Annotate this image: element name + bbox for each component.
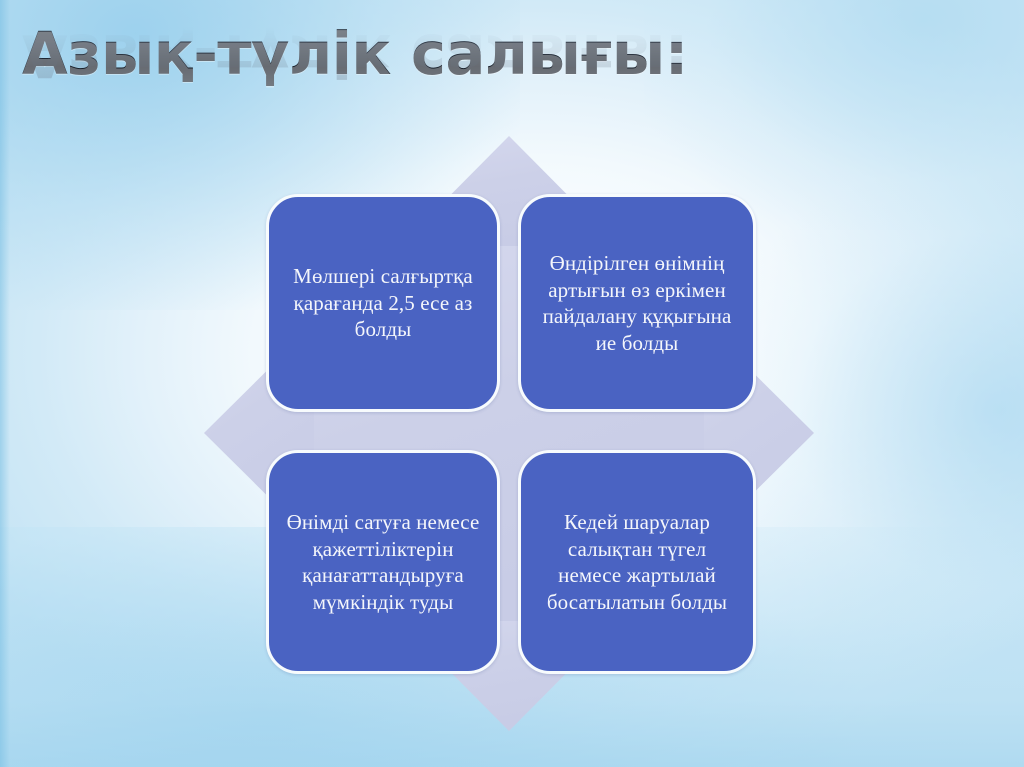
matrix-box-text: Өндірілген өнімнің артығын өз еркімен па… — [521, 250, 753, 356]
background-edge-left — [0, 0, 10, 767]
matrix-box-top-left[interactable]: Мөлшері салғыртқа қарағанда 2,5 есе аз б… — [266, 194, 500, 412]
page-title: Азық-түлік салығы: — [22, 22, 722, 86]
matrix-box-bottom-right[interactable]: Кедей шаруалар салықтан түгел немесе жар… — [518, 450, 756, 674]
matrix-box-top-right[interactable]: Өндірілген өнімнің артығын өз еркімен па… — [518, 194, 756, 412]
slide-canvas: Азық-түлік салығы: Азық-түлік салығы: Мө… — [0, 0, 1024, 767]
matrix-box-text: Кедей шаруалар салықтан түгел немесе жар… — [521, 509, 753, 615]
matrix-box-bottom-left[interactable]: Өнімді сатуға немесе қажеттіліктерін қан… — [266, 450, 500, 674]
slide-title-block: Азық-түлік салығы: Азық-түлік салығы: — [22, 22, 722, 142]
matrix-box-text: Өнімді сатуға немесе қажеттіліктерін қан… — [269, 509, 497, 615]
matrix-box-text: Мөлшері салғыртқа қарағанда 2,5 есе аз б… — [269, 263, 497, 343]
